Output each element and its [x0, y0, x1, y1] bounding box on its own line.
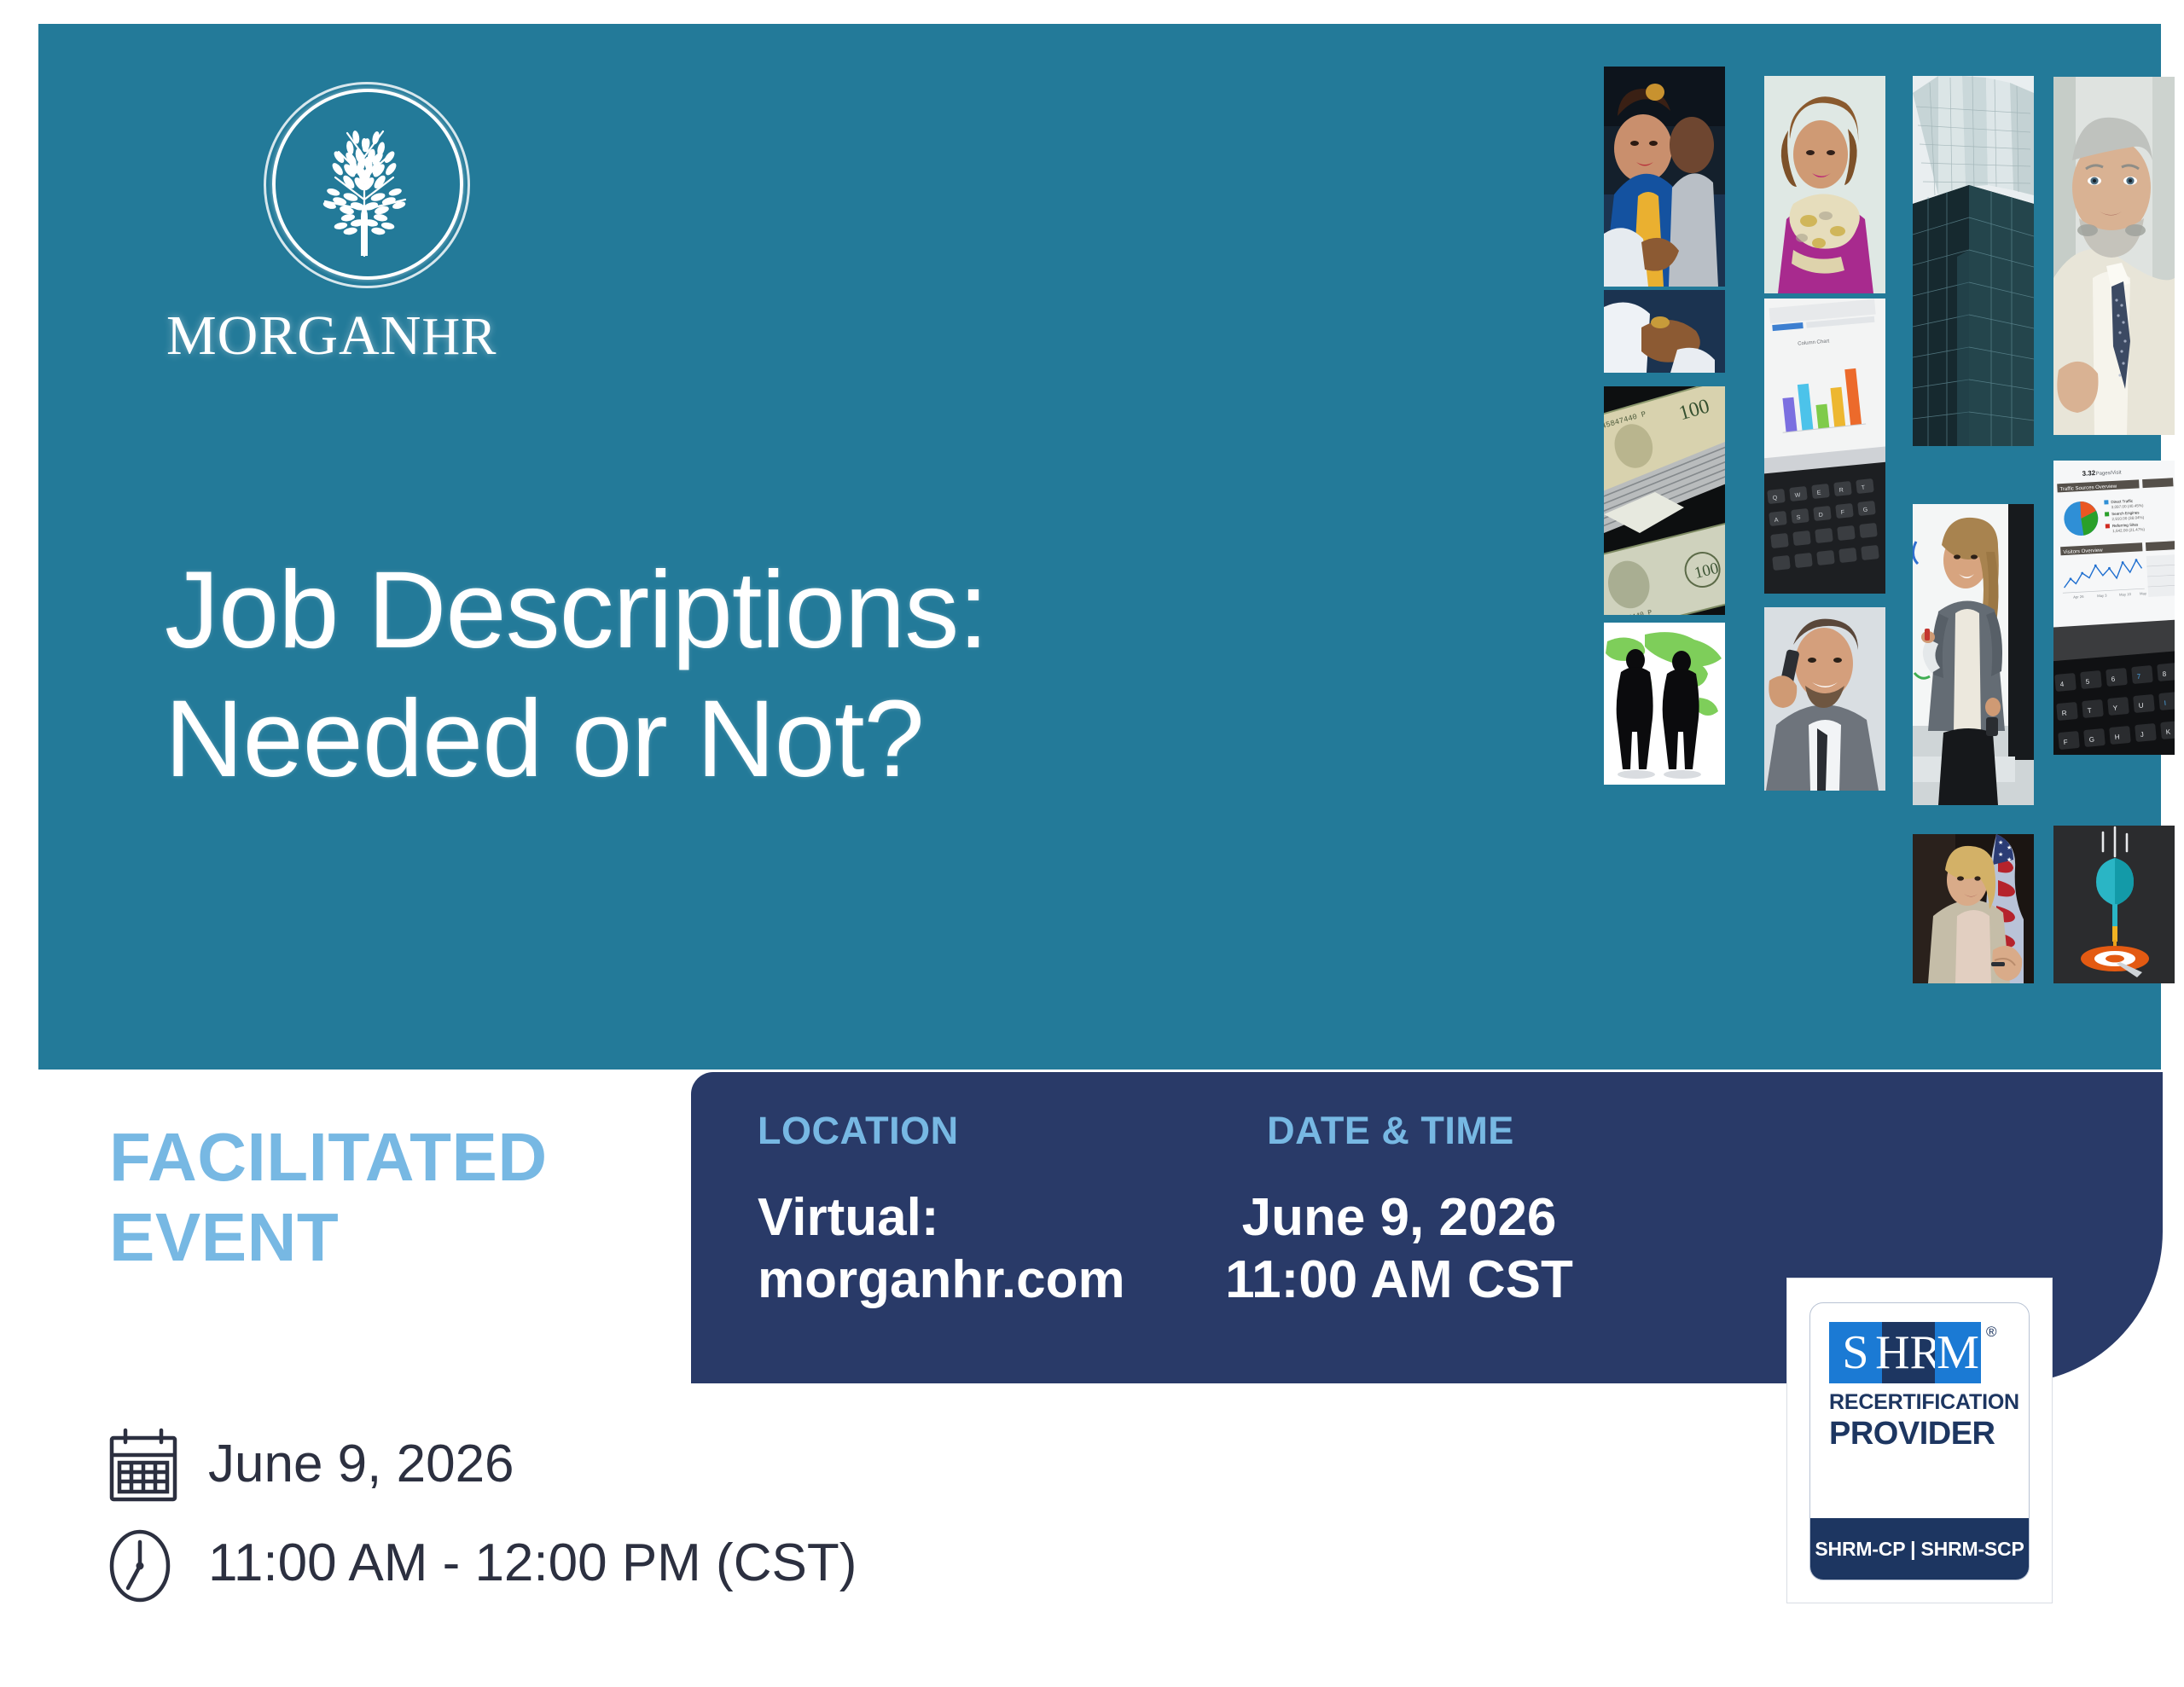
location-heading: LOCATION: [758, 1111, 1184, 1150]
event-type-line-1: FACILITATED: [109, 1117, 638, 1197]
meta-row-date: June 9, 2026: [104, 1426, 1043, 1525]
location-line-1: Virtual:: [758, 1187, 1184, 1249]
event-type-line-2: EVENT: [109, 1197, 638, 1278]
meta-date-text: June 9, 2026: [208, 1438, 514, 1491]
photo-handshake-business: [1604, 290, 1725, 373]
datetime-value: June 9, 2026 11:00 AM CST: [1169, 1187, 1647, 1311]
event-type-label: FACILITATED EVENT: [109, 1117, 638, 1278]
svg-text:★: ★: [1998, 851, 2003, 858]
location-value: Virtual: morganhr.com: [758, 1187, 1184, 1311]
svg-text:F: F: [2063, 739, 2068, 746]
shrm-badge-line-2: PROVIDER: [1829, 1417, 2015, 1450]
svg-text:D: D: [1818, 512, 1823, 518]
meta-row-time: 11:00 AM - 12:00 PM (CST): [104, 1525, 1043, 1624]
photo-glass-skyscraper: [1913, 76, 2034, 446]
hero-panel: MORGANHR Job Descriptions: Needed or Not…: [38, 24, 2161, 1070]
photo-woman-presenting-whiteboard: [1913, 504, 2034, 805]
shrm-badge-line-1: RECERTIFICATION: [1829, 1392, 2015, 1413]
brand-name-secondary: HR: [421, 308, 497, 366]
tree-in-circle-icon: [258, 75, 472, 288]
svg-text:G: G: [2088, 735, 2094, 744]
shrm-logo: S HR M: [1829, 1322, 1981, 1383]
photo-businessman-portrait-tie: [2053, 77, 2175, 435]
photo-laptop-bar-chart: Column Chart: [1764, 299, 1885, 594]
shrm-logo-m: M: [1935, 1322, 1981, 1383]
svg-text:J: J: [2140, 731, 2144, 739]
photo-women-meeting-smiling: [1604, 67, 1725, 287]
location-line-2[interactable]: morganhr.com: [758, 1249, 1184, 1312]
title-line-1: Job Descriptions:: [165, 546, 1427, 675]
svg-text:May 3: May 3: [2097, 593, 2107, 598]
photo-dart-bullseye-target: [2053, 826, 2175, 983]
shrm-logo-hr: HR: [1882, 1322, 1935, 1383]
photo-woman-scarf-portrait: [1764, 76, 1885, 293]
svg-text:Apr 26: Apr 26: [2073, 594, 2084, 600]
datetime-heading: DATE & TIME: [1169, 1111, 1647, 1150]
photo-man-on-phone-smiling: [1764, 607, 1885, 791]
shrm-credentials-bar: SHRM-CP | SHRM-SCP: [1810, 1518, 2029, 1580]
datetime-line-2: 11:00 AM CST: [1169, 1249, 1629, 1312]
svg-text:★: ★: [2007, 844, 2012, 851]
svg-text:May 10: May 10: [2119, 592, 2132, 597]
svg-text:May: May: [2140, 591, 2147, 595]
registered-trademark-icon: ®: [1986, 1324, 1997, 1341]
datetime-line-1: June 9, 2026: [1169, 1187, 1629, 1249]
shrm-credentials-text: SHRM-CP | SHRM-SCP: [1815, 1538, 2024, 1561]
shrm-badge-card: S HR M ® RECERTIFICATION PROVIDER SHRM-C…: [1809, 1302, 2030, 1580]
svg-text:R: R: [2061, 710, 2067, 717]
svg-text:W: W: [1794, 492, 1801, 499]
photo-woman-speaking-usa-flag: ★★ ★★: [1913, 834, 2034, 983]
svg-text:T: T: [2087, 707, 2092, 715]
shrm-logo-s: S: [1829, 1322, 1882, 1383]
photo-analytics-dashboard-keyboard: 3.32 Pages/Visit Traffic Sources Overvie…: [2053, 461, 2175, 755]
page-title: Job Descriptions: Needed or Not?: [165, 546, 1427, 803]
datetime-block: DATE & TIME June 9, 2026 11:00 AM CST: [1169, 1111, 1647, 1311]
brand-logo: MORGANHR: [166, 75, 559, 433]
svg-text:F: F: [1840, 510, 1844, 516]
svg-text:R: R: [1838, 487, 1844, 493]
svg-text:3.32: 3.32: [2082, 469, 2096, 478]
meta-time-text: 11:00 AM - 12:00 PM (CST): [208, 1537, 857, 1590]
location-block: LOCATION Virtual: morganhr.com: [758, 1111, 1184, 1311]
svg-text:★: ★: [2007, 856, 2012, 863]
photo-silhouettes-world-map: [1604, 623, 1725, 785]
shrm-recertification-badge: S HR M ® RECERTIFICATION PROVIDER SHRM-C…: [1786, 1278, 2053, 1603]
svg-text:H: H: [2114, 733, 2120, 741]
svg-text:G: G: [1862, 507, 1867, 513]
svg-text:★: ★: [1998, 839, 2003, 846]
photo-collage: 100 HB 45847440 P: [1604, 67, 2184, 1073]
brand-wordmark: MORGANHR: [166, 304, 559, 368]
tree-glyph-icon: [272, 89, 456, 273]
calendar-icon: [104, 1428, 183, 1506]
title-line-2: Needed or Not?: [165, 675, 1427, 803]
event-meta-list: June 9, 2026 11:00 AM - 12:00 PM (CST): [104, 1426, 1043, 1624]
svg-text:U: U: [2138, 702, 2144, 710]
brand-name-primary: MORGAN: [166, 304, 421, 367]
clock-icon: [104, 1527, 183, 1605]
photo-cash-hundred-dollar-bills: 100 HB 45847440 P: [1604, 386, 1725, 615]
